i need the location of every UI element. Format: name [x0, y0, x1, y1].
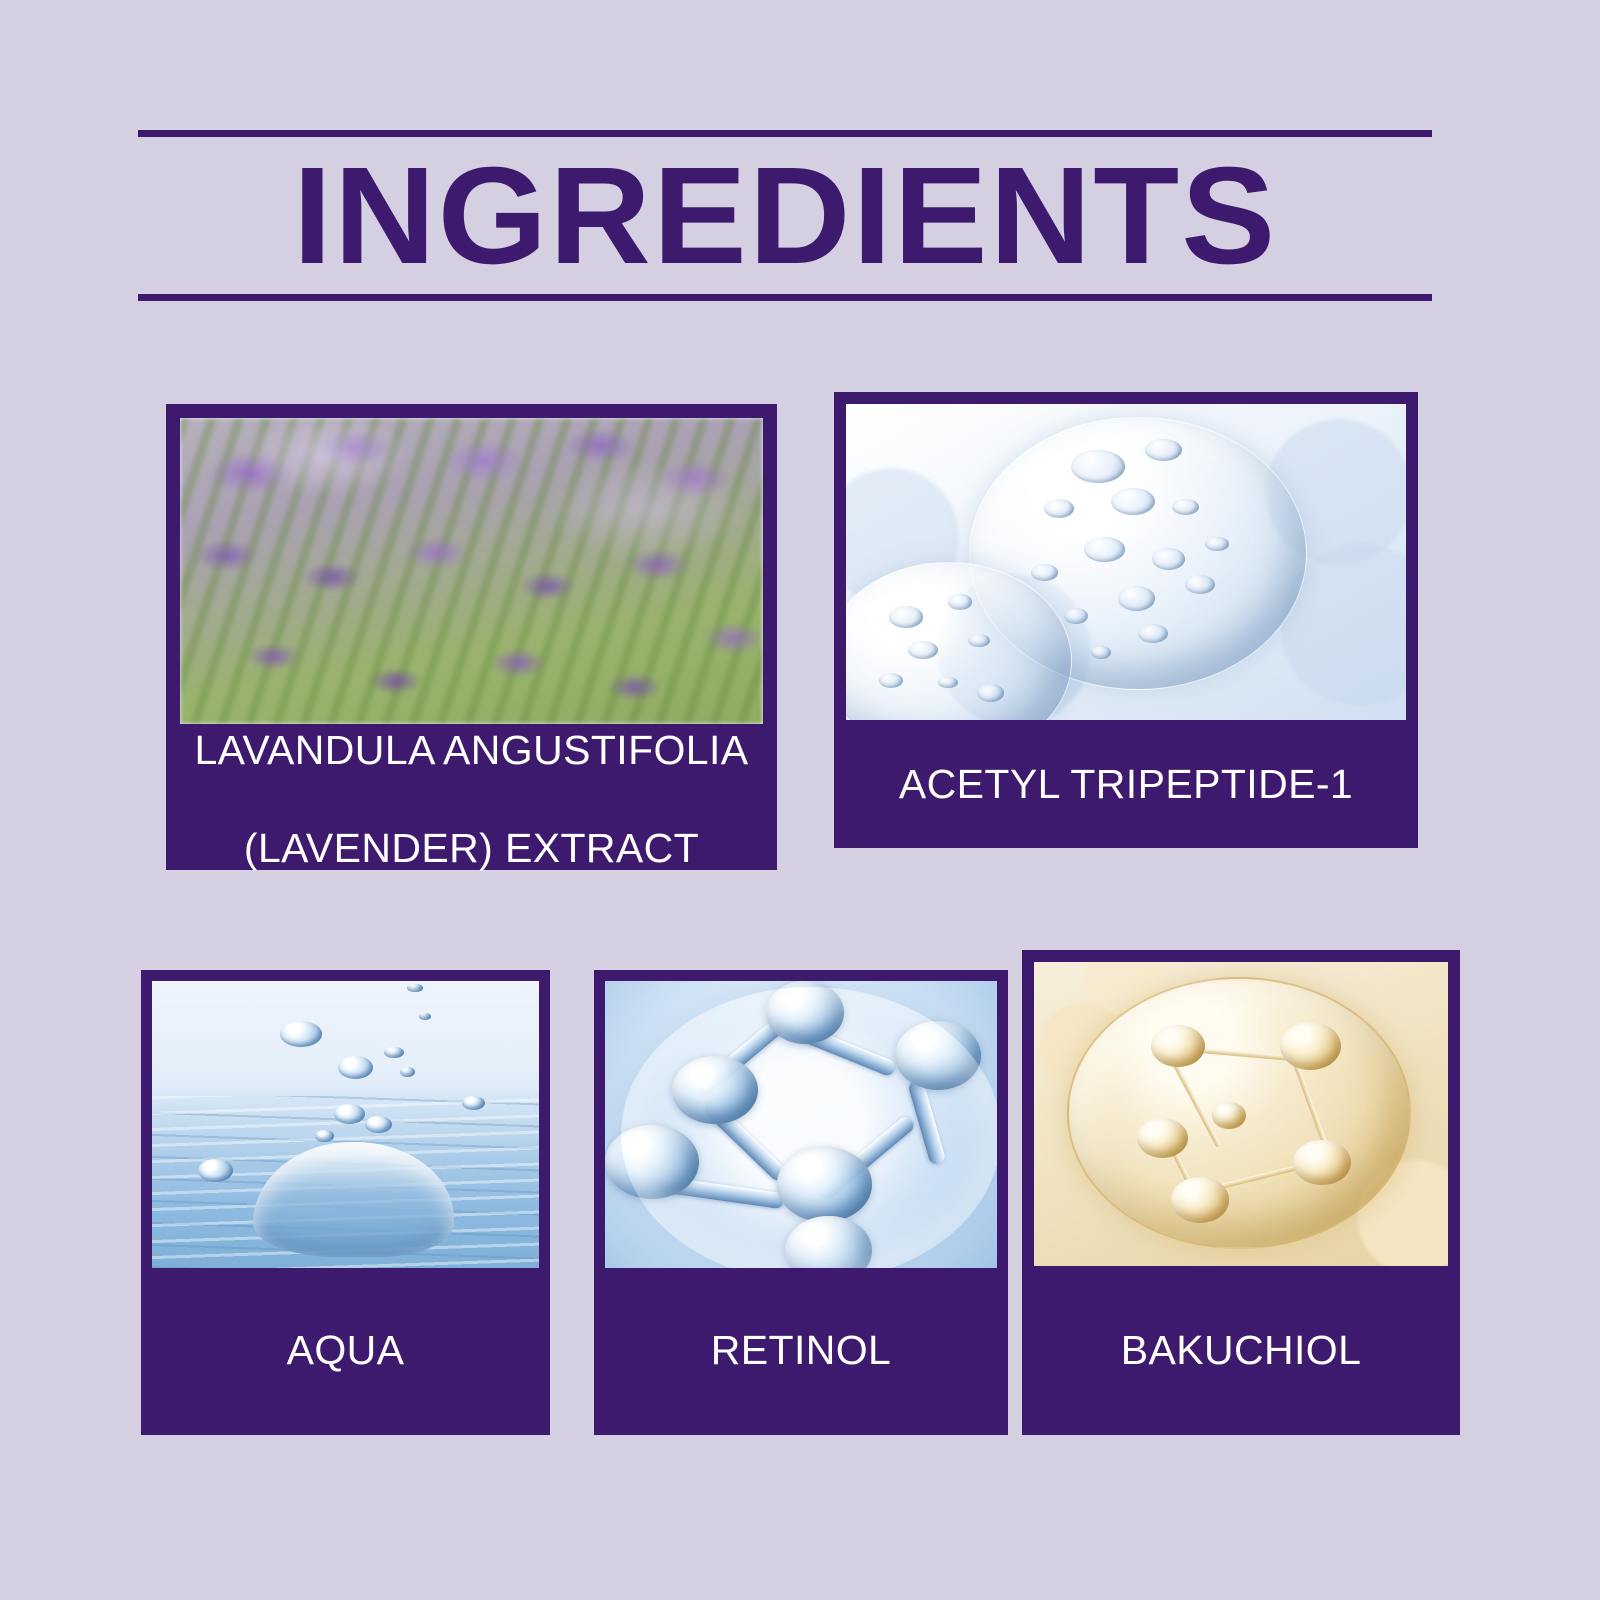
ingredient-label-retinol: RETINOL — [594, 1270, 1008, 1430]
water-bubbles-icon — [846, 404, 1406, 720]
golden-bubble-shape — [1067, 977, 1410, 1249]
ingredient-image-retinol — [605, 981, 997, 1268]
title-rule-top — [138, 130, 1432, 137]
ingredient-label-bakuchiol: BAKUCHIOL — [1022, 1270, 1460, 1430]
ingredient-image-acetyl-tripeptide — [846, 404, 1406, 720]
splash-shape — [253, 1142, 454, 1257]
ingredient-card-lavender[interactable]: LAVANDULA ANGUSTIFOLIA (LAVENDER) EXTRAC… — [166, 404, 777, 870]
ingredient-label-acetyl-tripeptide: ACETYL TRIPEPTIDE-1 — [834, 722, 1418, 847]
water-splash-icon — [152, 981, 539, 1268]
ingredient-label-line2: (LAVENDER) EXTRACT — [178, 824, 765, 873]
ingredient-card-bakuchiol[interactable]: BAKUCHIOL — [1022, 950, 1460, 1435]
page-title: INGREDIENTS — [125, 141, 1445, 291]
ingredient-image-aqua — [152, 981, 539, 1268]
ingredient-image-lavender — [180, 418, 763, 724]
ingredient-image-bakuchiol — [1034, 962, 1448, 1266]
ingredient-card-aqua[interactable]: AQUA — [141, 970, 550, 1435]
title-rule-bottom — [138, 294, 1432, 301]
ingredient-card-acetyl-tripeptide[interactable]: ACETYL TRIPEPTIDE-1 — [834, 392, 1418, 848]
ingredient-card-retinol[interactable]: RETINOL — [594, 970, 1008, 1435]
header: INGREDIENTS — [138, 130, 1432, 301]
ingredient-label-lavender: LAVANDULA ANGUSTIFOLIA (LAVENDER) EXTRAC… — [166, 729, 777, 869]
lavender-field-icon — [180, 418, 763, 724]
golden-molecule-icon — [1034, 962, 1448, 1266]
ingredient-label-aqua: AQUA — [141, 1270, 550, 1430]
ingredient-label-line1: LAVANDULA ANGUSTIFOLIA — [178, 726, 765, 775]
molecule-structure-icon — [605, 981, 997, 1268]
ingredients-infographic: INGREDIENTS LAVANDULA ANGUSTIFOLIA (LAVE… — [0, 0, 1600, 1600]
